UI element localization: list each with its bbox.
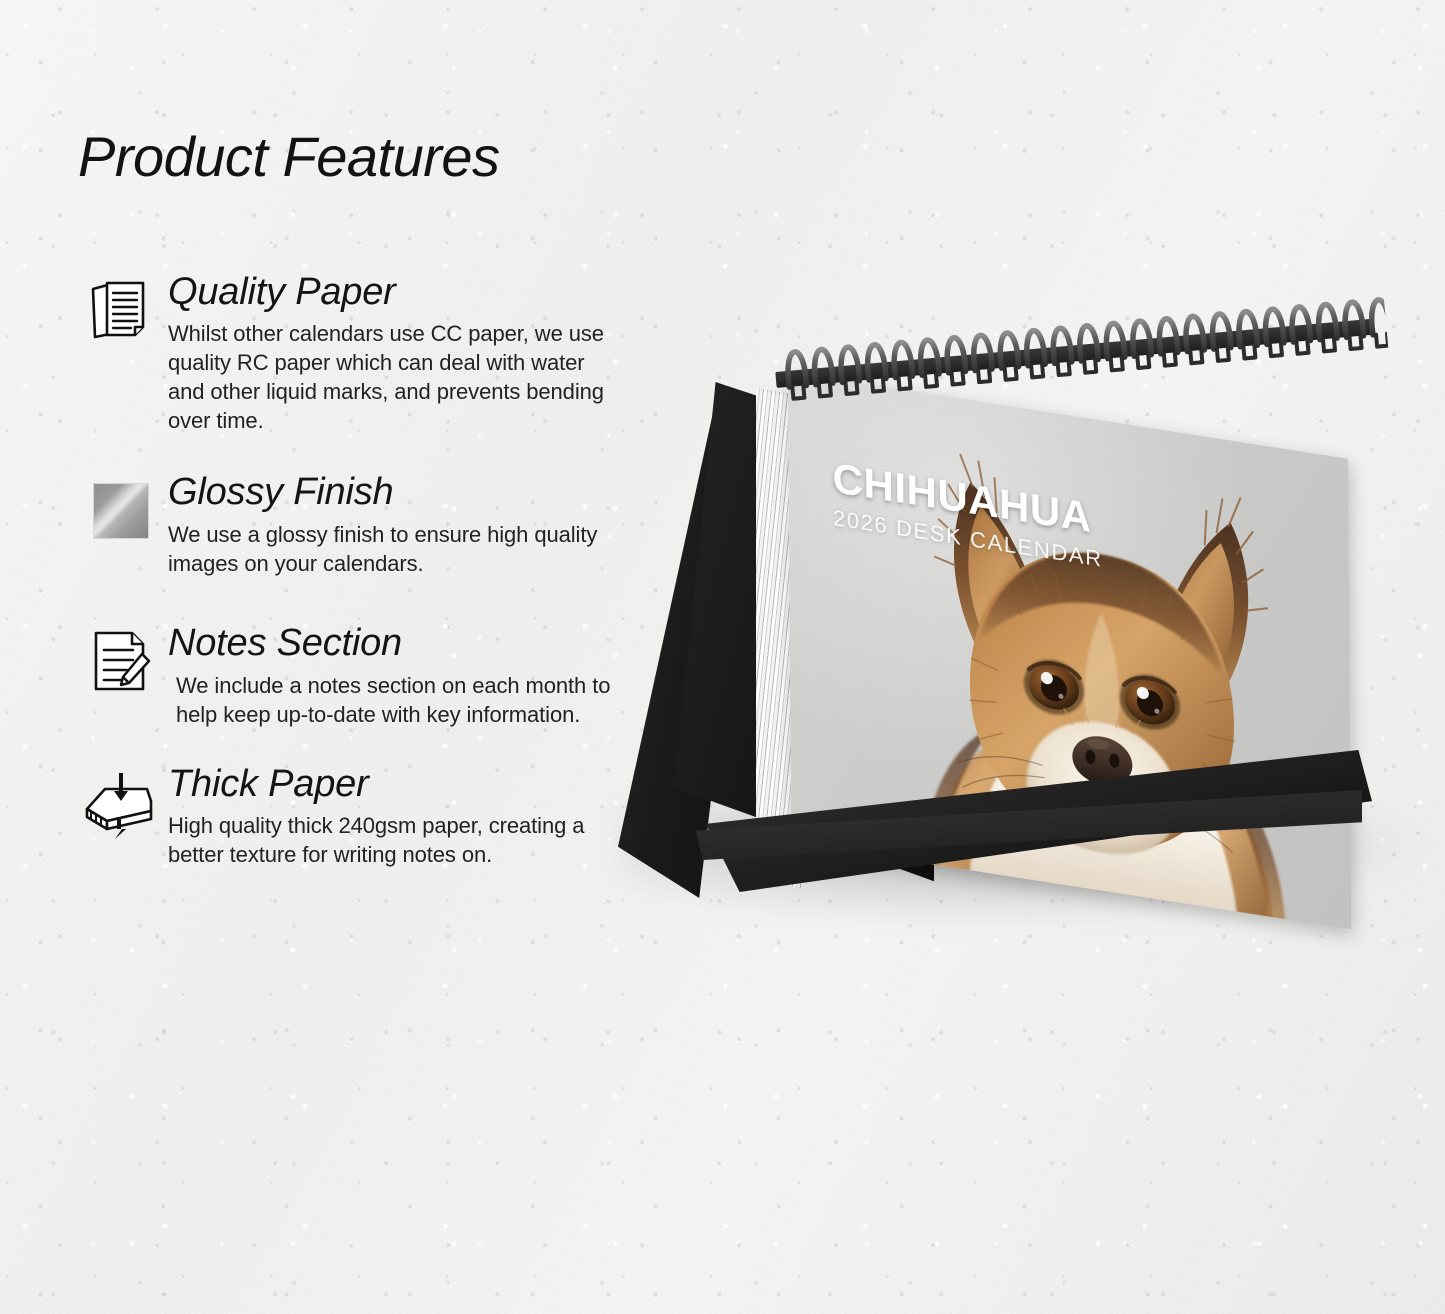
glossy-swatch-shape [93, 483, 149, 539]
feature-title: Quality Paper [168, 271, 638, 314]
feature-description: Whilst other calendars use CC paper, we … [168, 319, 620, 435]
feature-title: Glossy Finish [168, 471, 638, 514]
desk-calendar-mockup: CHIHUAHUA 2026 DESK CALENDAR [600, 320, 1440, 980]
features-column: Product Features Qualit [78, 128, 638, 901]
feature-description: We include a notes section on each month… [168, 671, 620, 729]
stacked-papers-icon [78, 275, 164, 361]
feature-item-quality-paper: Quality Paper Whilst other calendars use… [78, 271, 638, 436]
page-title: Product Features [78, 128, 638, 187]
feature-item-notes-section: Notes Section We include a notes section… [78, 622, 638, 729]
glossy-swatch-icon [78, 483, 164, 569]
feature-title: Thick Paper [168, 763, 638, 806]
feature-title: Notes Section [168, 622, 638, 665]
note-pencil-icon [78, 626, 164, 712]
feature-description: We use a glossy finish to ensure high qu… [168, 520, 620, 578]
feature-item-glossy-finish: Glossy Finish We use a glossy finish to … [78, 471, 638, 578]
feature-description: High quality thick 240gsm paper, creatin… [168, 811, 620, 869]
paper-thickness-icon [78, 771, 164, 857]
feature-item-thick-paper: Thick Paper High quality thick 240gsm pa… [78, 763, 638, 870]
